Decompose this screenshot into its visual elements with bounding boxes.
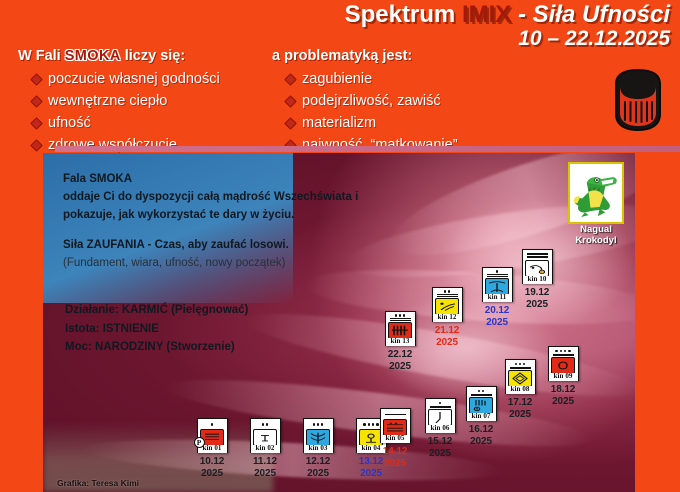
tone-bars [437, 290, 458, 297]
kin-label: kin 12 [433, 314, 462, 321]
tone-bars [487, 270, 508, 277]
attribute-action: Działanie: KARMIĆ (Pielęgnować) [65, 301, 248, 320]
left-bullet-list: poczucie własnej godności wewnętrzne cie… [18, 68, 220, 156]
tone-dot [515, 363, 518, 366]
spacer [63, 225, 433, 237]
tone-bars [430, 401, 451, 408]
list-item-label: materializm [302, 112, 376, 134]
tone-dots [510, 362, 531, 366]
kin-glyph-card[interactable]: kin 11 [482, 267, 513, 302]
tone-dot [211, 423, 214, 426]
tone-bar [471, 394, 492, 396]
tone-dots [254, 422, 277, 428]
attribute-power: Moc: NARODZINY (Stworzenie) [65, 338, 248, 357]
mayan-glyph-icon [551, 357, 575, 374]
heading-before: W Fali [18, 48, 61, 64]
tone-dots [201, 422, 224, 428]
tone-dot [317, 423, 320, 426]
kin-label: kin 03 [304, 445, 333, 452]
left-list-heading: W Fali SMOKA liczy się: [18, 48, 220, 64]
mayan-glyph-icon [508, 370, 532, 387]
header-banner: Spektrum IMIX - Siła Ufności 10 – 22.12.… [0, 0, 680, 150]
tone-dot [439, 402, 442, 405]
tone-bars [553, 349, 574, 356]
kin-card-kin-10[interactable]: kin 1019.122025 [517, 249, 557, 311]
tone-bar [385, 414, 406, 416]
kin-glyph-card[interactable]: kin 10 [522, 249, 553, 284]
list-item-label: ufność [48, 112, 91, 134]
tone-dot [448, 290, 451, 293]
tone-dots [553, 349, 574, 353]
nagual-label-line2: Krokodyl [563, 236, 629, 247]
date-range-subtitle: 10 – 22.12.2025 [345, 28, 670, 50]
tone-bar [510, 367, 531, 369]
kin-date: 22.122025 [380, 349, 420, 373]
list-item: zagubienie [272, 68, 458, 90]
diamond-bullet-icon [30, 95, 43, 108]
kin-label: kin 08 [506, 386, 535, 393]
right-bullet-list: zagubienie podejrzliwość, zawiść materia… [272, 68, 458, 156]
kin-card-kin-01[interactable]: kin 01P10.122025 [192, 418, 232, 480]
kin-card-kin-09[interactable]: kin 0918.122025 [543, 346, 583, 408]
tone-dot [519, 363, 522, 366]
page-title: Spektrum IMIX - Siła Ufności [345, 2, 670, 27]
kin-date: 17.122025 [500, 397, 540, 421]
mayan-glyph-icon [253, 429, 277, 446]
mayan-glyph-icon [435, 298, 459, 315]
left-list-column: W Fali SMOKA liczy się: poczucie własnej… [18, 48, 220, 156]
mayan-glyph-icon [388, 322, 412, 339]
kin-label: kin 11 [483, 294, 512, 301]
attribute-essence: Istota: ISTNIENIE [65, 320, 248, 339]
tone-bars [385, 411, 406, 418]
kin-label: kin 09 [549, 373, 578, 380]
kin-card-kin-06[interactable]: kin 0615.122025 [420, 398, 460, 460]
kin-card-kin-12[interactable]: kin 1221.122025 [427, 287, 467, 349]
diamond-bullet-icon [30, 139, 43, 152]
tone-bar [487, 276, 508, 277]
list-item-label: poczucie własnej godności [48, 68, 220, 90]
tone-bars [510, 362, 531, 369]
tone-dot [395, 314, 398, 317]
panel-line: oddaje Ci do dyspozycji całą mądrość Wsz… [63, 189, 433, 207]
mayan-glyph-icon [306, 429, 330, 446]
list-item: wewnętrzne ciepło [18, 90, 220, 112]
nagual-crocodile-card [568, 162, 624, 224]
diamond-bullet-icon [284, 73, 297, 86]
kin-glyph-card[interactable]: kin 01P [197, 418, 228, 453]
diamond-bullet-icon [284, 95, 297, 108]
wave-image-panel: Fala SMOKA oddaje Ci do dyspozycji całą … [43, 153, 635, 492]
kin-date: 21.122025 [427, 325, 467, 349]
list-item: poczucie własnej godności [18, 68, 220, 90]
tone-bar [437, 296, 458, 297]
mayan-glyph-icon [383, 419, 407, 436]
tone-dot [403, 314, 406, 317]
kin-date: 14.122025 [375, 446, 415, 470]
kin-date: 10.122025 [192, 456, 232, 480]
kin-card-kin-05[interactable]: kin 0514.122025 [375, 408, 415, 470]
header-divider [55, 146, 680, 152]
tone-dot [363, 423, 366, 426]
panel-line: Fala SMOKA [63, 171, 433, 189]
list-item: podejrzliwość, zawiść [272, 90, 458, 112]
tone-dot [266, 423, 269, 426]
kin-glyph-card[interactable]: kin 07 [466, 386, 497, 421]
tone-dot [313, 423, 316, 426]
kin-label: kin 02 [251, 445, 280, 452]
tone-dot [262, 423, 265, 426]
tone-bar [487, 274, 508, 275]
kin-label: kin 05 [381, 435, 410, 442]
portal-badge: P [194, 437, 205, 448]
tone-dot [372, 423, 375, 426]
right-list-heading: a problematyką jest: [272, 48, 458, 64]
tone-dot [321, 423, 324, 426]
tone-bar [390, 318, 411, 319]
panel-line: pokazuje, jak wykorzystać te dary w życi… [63, 207, 433, 225]
kin-label: kin 13 [386, 338, 415, 345]
tone-bars [390, 314, 411, 321]
kin-card-kin-11[interactable]: kin 1120.122025 [477, 267, 517, 329]
tone-dot [444, 290, 447, 293]
kin-glyph-card[interactable]: kin 12 [432, 287, 463, 322]
diamond-bullet-icon [284, 117, 297, 130]
tone-dot [555, 350, 558, 353]
tone-bar [527, 256, 548, 258]
kin-date: 18.122025 [543, 384, 583, 408]
kin-label: kin 06 [426, 425, 455, 432]
diamond-bullet-icon [30, 117, 43, 130]
heading-after: liczy się: [125, 48, 185, 64]
panel-description: Fala SMOKA oddaje Ci do dyspozycji całą … [63, 171, 433, 273]
kin-date: 11.122025 [245, 456, 285, 480]
kin-glyph-card[interactable]: kin 02 [250, 418, 281, 453]
kin-date: 15.122025 [420, 436, 460, 460]
tone-dot [564, 350, 567, 353]
kin-glyph-card[interactable]: kin 05 [380, 408, 411, 443]
imix-mayan-glyph-icon [611, 68, 665, 132]
panel-power-line: Siła ZAUFANIA - Czas, aby zaufać losowi. [63, 237, 433, 255]
graphic-credit: Grafika: Teresa Kimi [57, 478, 139, 488]
tone-bars [471, 389, 492, 396]
title-block: Spektrum IMIX - Siła Ufności 10 – 22.12.… [345, 2, 670, 50]
tone-bar [430, 406, 451, 408]
tone-bar [437, 294, 458, 295]
tone-dot [560, 350, 563, 353]
title-prefix: Spektrum [345, 1, 456, 28]
tone-dot [399, 314, 402, 317]
kin-glyph-card[interactable]: kin 09 [548, 346, 579, 381]
tone-dots [471, 389, 492, 393]
kin-glyph-card[interactable]: kin 06 [425, 398, 456, 433]
list-item-label: zagubienie [302, 68, 372, 90]
nagual-label: Nagual Krokodyl [563, 225, 629, 247]
tone-dot [568, 350, 571, 353]
kin-date: 20.122025 [477, 305, 517, 329]
mayan-glyph-icon [485, 278, 509, 295]
tone-dot [523, 363, 526, 366]
panel-power-sub: (Fundament, wiara, ufność, nowy początek… [63, 255, 433, 273]
kin-label: kin 07 [467, 413, 496, 420]
tone-bar [553, 354, 574, 356]
kin-card-kin-02[interactable]: kin 0211.122025 [245, 418, 285, 480]
panel-attributes: Działanie: KARMIĆ (Pielęgnować) Istota: … [65, 301, 248, 357]
kin-date: 19.122025 [517, 287, 557, 311]
tone-bars [527, 252, 548, 259]
tone-dots [487, 270, 508, 273]
title-highlight-imix: IMIX [462, 1, 511, 28]
title-suffix: - Siła Ufności [518, 1, 670, 28]
kin-card-kin-08[interactable]: kin 0817.122025 [500, 359, 540, 421]
diamond-bullet-icon [30, 73, 43, 86]
list-item: materializm [272, 112, 458, 134]
right-list-column: a problematyką jest: zagubienie podejrzl… [272, 48, 458, 156]
kin-card-kin-07[interactable]: kin 0716.122025 [461, 386, 501, 448]
tone-dot [496, 270, 499, 273]
tone-dots [437, 290, 458, 293]
mayan-glyph-icon [525, 260, 549, 277]
list-item: ufność [18, 112, 220, 134]
tone-dots [390, 314, 411, 317]
mayan-glyph-icon [428, 409, 452, 426]
list-item-label: wewnętrzne ciepło [48, 90, 167, 112]
kin-glyph-card[interactable]: kin 08 [505, 359, 536, 394]
tone-bar [527, 253, 548, 255]
heading-highlight-smoka: SMOKA [65, 48, 121, 64]
tone-dots [307, 422, 330, 428]
kin-glyph-card[interactable]: kin 03 [303, 418, 334, 453]
mayan-glyph-icon [469, 397, 493, 414]
tone-dots [430, 401, 451, 405]
kin-card-kin-03[interactable]: kin 0312.122025 [298, 418, 338, 480]
tone-dot [482, 390, 485, 393]
crocodile-icon [572, 166, 620, 220]
kin-card-kin-13[interactable]: kin 1322.122025 [380, 311, 420, 373]
kin-label: kin 10 [523, 276, 552, 283]
kin-glyph-card[interactable]: kin 13 [385, 311, 416, 346]
tone-dot [368, 423, 371, 426]
list-item-label: podejrzliwość, zawiść [302, 90, 441, 112]
tone-bar [390, 320, 411, 321]
kin-date: 16.122025 [461, 424, 501, 448]
tone-dot [478, 390, 481, 393]
kin-date: 12.122025 [298, 456, 338, 480]
